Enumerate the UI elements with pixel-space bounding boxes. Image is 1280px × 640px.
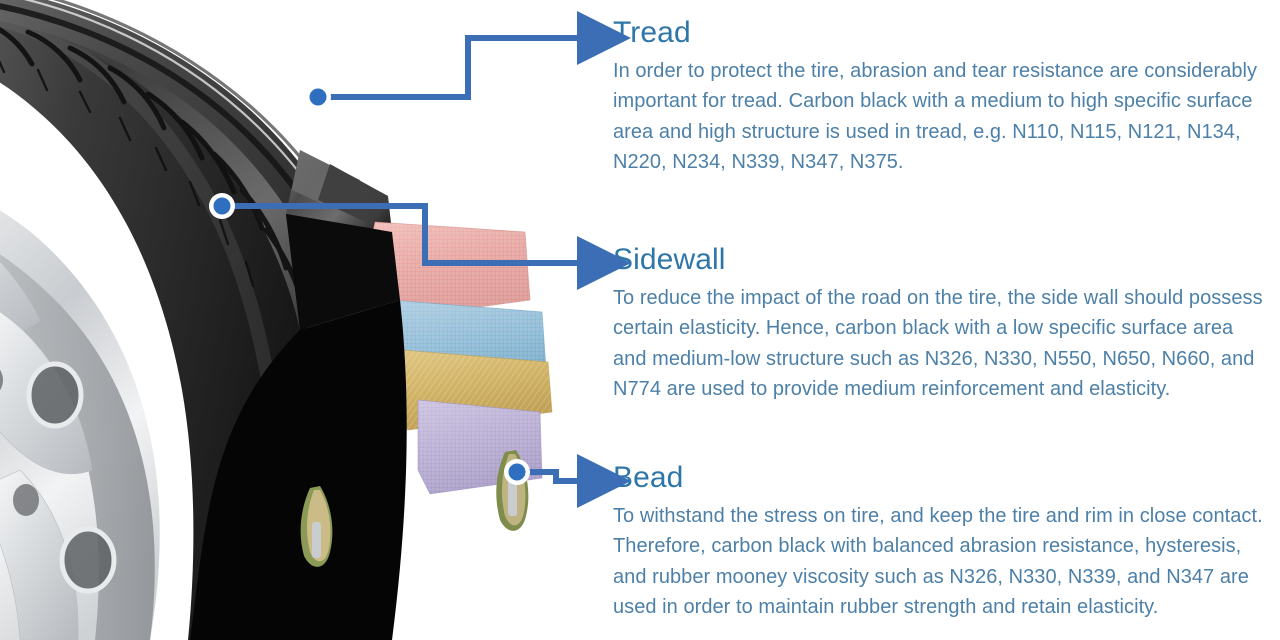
description-column: Tread In order to protect the tire, abra… — [613, 0, 1280, 640]
heading-bead: Bead — [613, 461, 1263, 495]
heading-tread: Tread — [613, 16, 1263, 50]
heading-sidewall: Sidewall — [613, 243, 1263, 277]
infographic-canvas: Tread In order to protect the tire, abra… — [0, 0, 1280, 640]
body-tread: In order to protect the tire, abrasion a… — [613, 56, 1263, 178]
section-bead: Bead To withstand the stress on tire, an… — [613, 461, 1263, 623]
body-bead: To withstand the stress on tire, and kee… — [613, 501, 1263, 623]
body-sidewall: To reduce the impact of the road on the … — [613, 283, 1263, 405]
tire-cutaway-illustration — [0, 0, 600, 640]
section-sidewall: Sidewall To reduce the impact of the roa… — [613, 243, 1263, 405]
section-tread: Tread In order to protect the tire, abra… — [613, 16, 1263, 178]
